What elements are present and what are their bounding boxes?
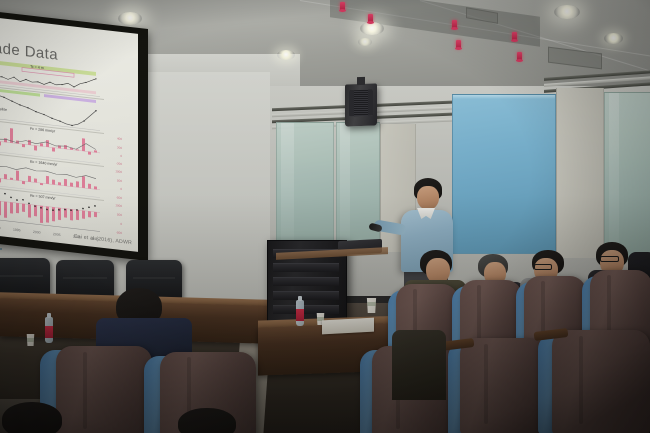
frosted-glass-panel — [276, 122, 334, 252]
water-bottle[interactable] — [45, 317, 53, 343]
wall-speaker — [345, 83, 377, 126]
auditorium-seat[interactable] — [552, 330, 650, 433]
ceiling-downlight — [554, 5, 580, 19]
blind-top-edge — [453, 95, 555, 99]
paper-cup[interactable] — [26, 334, 35, 346]
chart-legend-satellite: Satellite — [0, 107, 7, 112]
ceiling-downlight — [118, 12, 142, 25]
torso — [392, 330, 446, 400]
seat-back — [552, 330, 650, 433]
head — [2, 402, 62, 433]
rack-slot — [273, 305, 339, 314]
paper-cup[interactable] — [366, 298, 377, 313]
rack-slot — [273, 291, 339, 300]
frosted-glass-panel — [336, 122, 380, 254]
slide-chart-stack: Tc = 4 m — [0, 59, 132, 243]
frosted-glass-panel — [604, 92, 650, 262]
fire-sprinkler-icon — [512, 32, 517, 41]
presenter-shirt-collar — [417, 208, 435, 219]
ceiling-downlight — [360, 22, 384, 35]
bottle-label — [45, 326, 53, 338]
window-roller-blind[interactable] — [452, 94, 556, 254]
ceiling-downlight — [277, 50, 295, 60]
fire-sprinkler-icon — [368, 14, 373, 23]
cup-band — [366, 302, 377, 306]
fire-sprinkler-icon — [517, 52, 522, 61]
blind-spacer — [0, 248, 2, 250]
ceiling-downlight — [604, 33, 623, 44]
conference-room-photo: cade Data — [0, 0, 650, 433]
seat-back — [460, 338, 546, 433]
eyeglasses-icon — [600, 256, 619, 262]
fire-sprinkler-icon — [456, 40, 461, 49]
ceiling-downlight — [358, 38, 372, 46]
projection-screen-surface: cade Data — [0, 17, 138, 252]
speaker-grill-icon — [349, 90, 373, 117]
auditorium-seat[interactable] — [460, 338, 546, 433]
projection-screen: cade Data — [0, 11, 148, 261]
chart-yticks-rc: 1000 500 0 -500 — [106, 201, 124, 239]
ceiling-vent — [548, 47, 602, 70]
wall-panel — [556, 88, 604, 258]
head — [178, 408, 236, 433]
chart-yticks-fc: 400 200 0 -200 — [106, 134, 124, 168]
seat-back — [56, 346, 152, 433]
slide-title: cade Data — [0, 39, 58, 64]
cup-band — [26, 338, 35, 342]
chart-yticks-ec: 1000 500 0 -500 — [106, 167, 124, 202]
eyeglasses-icon — [534, 264, 552, 270]
bottle-label — [296, 309, 304, 321]
rack-slot — [273, 277, 339, 286]
open-notebook[interactable] — [322, 318, 374, 335]
rack-slot — [273, 263, 339, 272]
fire-sprinkler-icon — [340, 2, 345, 11]
auditorium-seat[interactable] — [56, 346, 152, 433]
presenter-face — [417, 186, 439, 210]
water-bottle[interactable] — [296, 300, 304, 326]
fire-sprinkler-icon — [452, 20, 457, 29]
speaker-bracket — [357, 77, 365, 85]
